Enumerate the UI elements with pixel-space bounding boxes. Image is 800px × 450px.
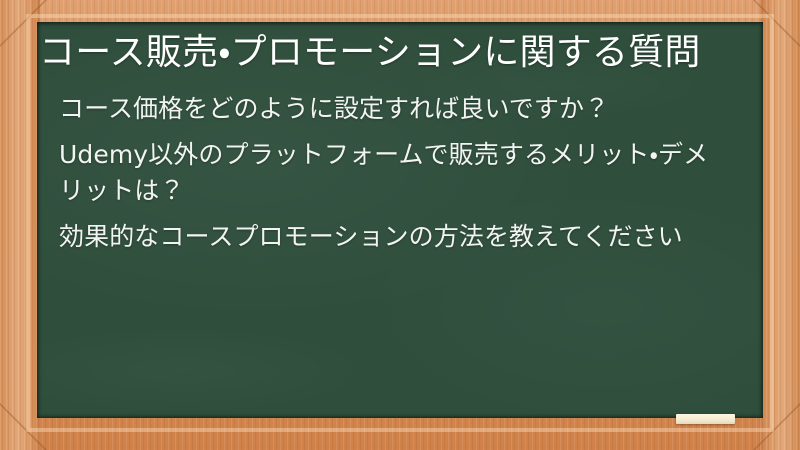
frame-plank-right	[760, 0, 800, 450]
frame-plank-left	[0, 0, 40, 450]
list-item: Udemy以外のプラットフォームで販売するメリット・デメリットは？	[59, 137, 727, 208]
chalkboard-content: コース販売・プロモーションに関する質問 コース価格をどのように設定すれば良いです…	[37, 22, 763, 255]
chalkboard-slide: コース販売・プロモーションに関する質問 コース価格をどのように設定すれば良いです…	[0, 0, 800, 450]
page-title: コース販売・プロモーションに関する質問	[38, 30, 745, 77]
chalkboard-surface: コース販売・プロモーションに関する質問 コース価格をどのように設定すれば良いです…	[37, 22, 763, 418]
list-item: 効果的なコースプロモーションの方法を教えてください	[59, 219, 727, 255]
question-list: コース価格をどのように設定すれば良いですか？ Udemy以外のプラットフォームで…	[38, 91, 745, 255]
chalk-stick-icon	[676, 414, 735, 424]
list-item: コース価格をどのように設定すれば良いですか？	[59, 91, 727, 127]
